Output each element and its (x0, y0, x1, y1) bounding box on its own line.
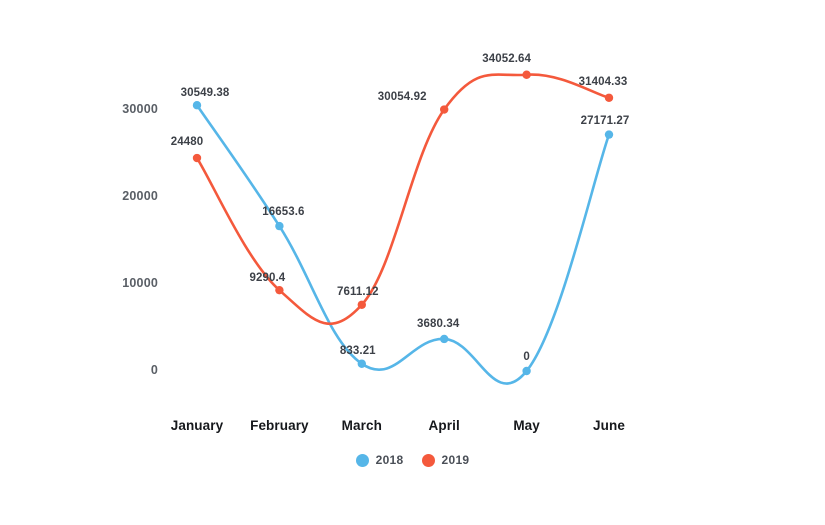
point-label-2018-February: 16653.6 (262, 206, 304, 218)
data-point-2019-April[interactable] (440, 105, 448, 113)
point-label-2018-May: 0 (523, 351, 530, 363)
legend-swatch-icon (422, 454, 435, 467)
series-line-2018 (197, 105, 609, 383)
point-label-2019-February: 9290.4 (250, 272, 286, 284)
data-point-2018-January[interactable] (193, 101, 201, 109)
legend-item-2018[interactable]: 2018 (356, 453, 404, 467)
legend-swatch-icon (356, 454, 369, 467)
y-tick-label: 30000 (78, 102, 158, 116)
data-point-2019-June[interactable] (605, 94, 613, 102)
point-label-2018-March: 833.21 (340, 345, 376, 357)
y-tick-label: 10000 (78, 276, 158, 290)
data-point-2019-January[interactable] (193, 154, 201, 162)
point-label-2019-March: 7611.12 (337, 286, 379, 298)
data-point-2018-February[interactable] (275, 222, 283, 230)
x-tick-label-june: June (549, 418, 669, 433)
chart-legend: 2018 2019 (0, 453, 825, 467)
legend-label: 2019 (442, 453, 470, 467)
point-label-2019-April: 30054.92 (378, 91, 427, 103)
legend-label: 2018 (376, 453, 404, 467)
legend-item-2019[interactable]: 2019 (422, 453, 470, 467)
point-label-2018-January: 30549.38 (181, 87, 230, 99)
point-label-2019-June: 31404.33 (579, 76, 628, 88)
point-label-2019-May: 34052.64 (482, 53, 531, 65)
data-point-2019-February[interactable] (275, 286, 283, 294)
series-line-2019 (197, 75, 609, 324)
point-label-2018-June: 27171.27 (581, 115, 630, 127)
y-tick-label: 0 (78, 363, 158, 377)
data-point-2018-April[interactable] (440, 335, 448, 343)
y-tick-label: 20000 (78, 189, 158, 203)
data-point-2019-May[interactable] (522, 71, 530, 79)
data-point-2018-May[interactable] (522, 367, 530, 375)
data-point-2018-June[interactable] (605, 130, 613, 138)
data-point-2019-March[interactable] (358, 301, 366, 309)
line-chart: 3000020000100000 JanuaryFebruaryMarchApr… (0, 0, 825, 525)
point-label-2019-January: 24480 (171, 136, 203, 148)
point-label-2018-April: 3680.34 (417, 318, 459, 330)
data-point-2018-March[interactable] (358, 360, 366, 368)
plot-area (0, 0, 825, 525)
chart-canvas (0, 0, 825, 525)
